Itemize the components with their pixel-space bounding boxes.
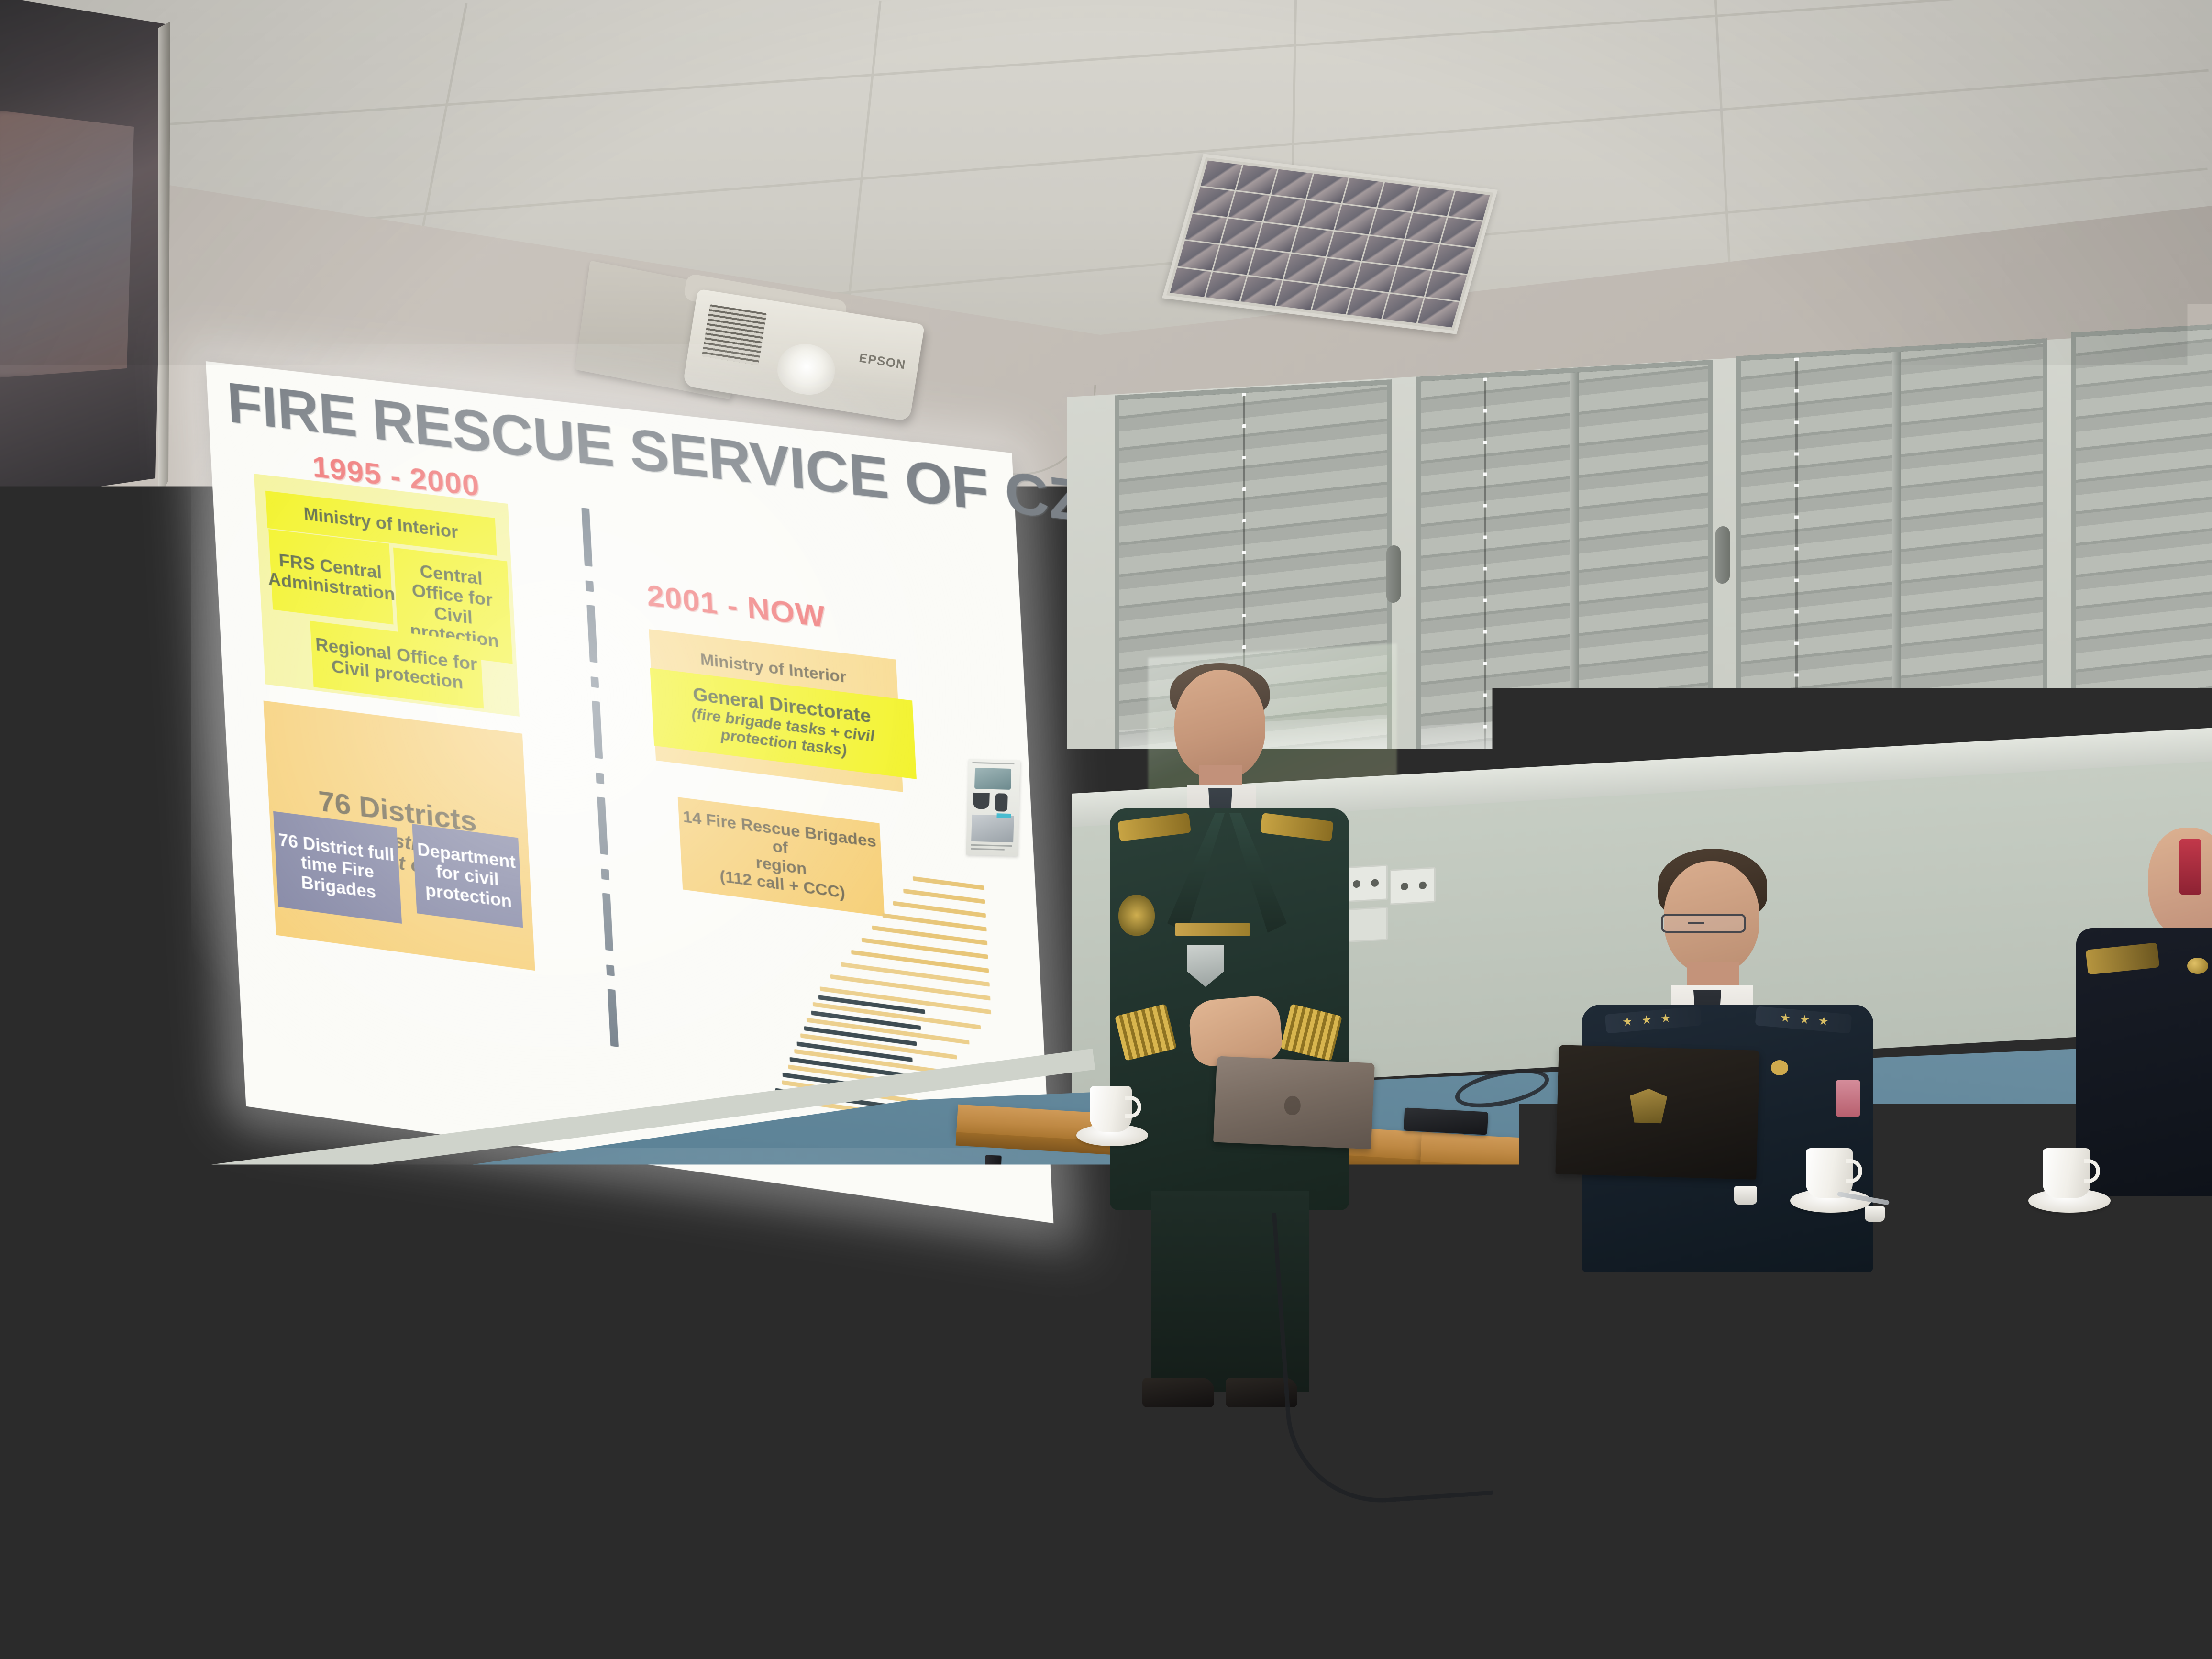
creamer-cup-2[interactable] <box>1865 1206 1885 1222</box>
presentation-slide: FIRE RESCUE SERVICE OF CZECH REP. 1995 -… <box>206 361 1053 1223</box>
window-mullion-3 <box>1892 352 1901 763</box>
slide-divider <box>581 508 620 1086</box>
browser-active-tab-label <box>1150 1580 1222 1587</box>
chair-3-back <box>1769 1238 2116 1508</box>
foreground-laptop-screen[interactable] <box>989 1546 1673 1659</box>
bookmark-3-icon[interactable] <box>1131 1644 1140 1653</box>
browser-tab-icon[interactable] <box>1042 1577 1057 1584</box>
seated-officer-collar-pin-right <box>1771 1060 1788 1075</box>
browser-tab-title[interactable] <box>1065 1574 1128 1583</box>
bookmark-3[interactable] <box>1145 1644 1183 1651</box>
bookmark-1[interactable] <box>999 1649 1052 1656</box>
window-control-dot[interactable] <box>996 1576 1009 1589</box>
window-4 <box>2071 324 2212 763</box>
bookmark-4[interactable] <box>1207 1642 1237 1648</box>
chair-3[interactable] <box>1769 1238 2116 1508</box>
right-edge-person <box>2076 828 2212 1191</box>
projector-lens <box>774 340 839 398</box>
presenter-sleeve-patch <box>1118 895 1155 936</box>
era-label-right: 2001 - NOW <box>646 578 827 634</box>
tv-screen-reflection <box>0 110 139 378</box>
bookmark-2-icon[interactable] <box>1063 1646 1073 1655</box>
coffee-cup-2[interactable] <box>1806 1148 1853 1198</box>
projection-screen: FIRE RESCUE SERVICE OF CZECH REP. 1995 -… <box>206 361 1053 1223</box>
browser-app-icon[interactable] <box>1022 1577 1032 1587</box>
window-2 <box>1416 360 1713 788</box>
bookmark-4-icon[interactable] <box>1194 1642 1203 1651</box>
meeting-room-photo: EPSON FIRE RESCUE SERVICE OF CZECH REP. … <box>0 0 2212 1659</box>
blind-cord-2[interactable] <box>1484 377 1486 779</box>
bookmark-2[interactable] <box>1077 1647 1120 1653</box>
coffee-cup-1[interactable] <box>1090 1086 1132 1132</box>
right-edge-jacket-button <box>2187 958 2208 974</box>
window-handle-2[interactable] <box>1715 526 1730 584</box>
creamer-cup-1[interactable] <box>1734 1186 1757 1205</box>
bookmark-6[interactable] <box>1336 1637 1386 1644</box>
box-department-civil-protection: Department for civil protection <box>412 824 523 928</box>
window-3 <box>1736 338 2047 777</box>
projector-vent <box>702 304 767 365</box>
laptop-black[interactable] <box>1555 1045 1759 1180</box>
document-barcode <box>392 1530 453 1553</box>
seated-officer-glasses <box>1661 914 1746 933</box>
window-handle-1[interactable] <box>1386 545 1401 603</box>
power-outlet-2[interactable] <box>1390 867 1436 905</box>
floor-power-cable <box>1272 1199 1493 1509</box>
presenter-shoe-left <box>1142 1378 1214 1407</box>
wall-instruction-poster <box>966 759 1020 856</box>
blind-cord-3[interactable] <box>1795 357 1798 769</box>
projector-brand-label: EPSON <box>858 350 907 372</box>
window-mullion-2 <box>1570 372 1579 774</box>
browser-address-bar[interactable] <box>1134 1598 1382 1613</box>
presenter-head <box>1174 670 1265 779</box>
right-edge-red-marker <box>2179 839 2201 895</box>
tv-bezel <box>158 22 170 507</box>
laptop-silver[interactable] <box>1213 1056 1375 1150</box>
presenter-nameplate <box>1175 923 1250 936</box>
back-icon[interactable] <box>1043 1607 1055 1619</box>
bookmark-7[interactable] <box>1399 1635 1442 1642</box>
bookmark-6-icon[interactable] <box>1321 1637 1330 1647</box>
bookmark-5-icon[interactable] <box>1249 1640 1258 1649</box>
smartphone-on-table[interactable] <box>1404 1107 1488 1135</box>
cup-3-body <box>2043 1148 2090 1198</box>
box-76-district-fire-brigades: 76 District full time Fire Brigades <box>273 811 402 924</box>
bookmark-5[interactable] <box>1262 1640 1308 1647</box>
reload-icon[interactable] <box>1072 1606 1084 1618</box>
seated-officer-flag-patch <box>1836 1080 1860 1117</box>
wall-mounted-tv <box>0 0 182 502</box>
box-frs-central-administration: FRS Central Administration <box>268 529 393 624</box>
lock-icon[interactable] <box>1099 1605 1111 1617</box>
coffee-cup-3[interactable] <box>2043 1148 2090 1198</box>
